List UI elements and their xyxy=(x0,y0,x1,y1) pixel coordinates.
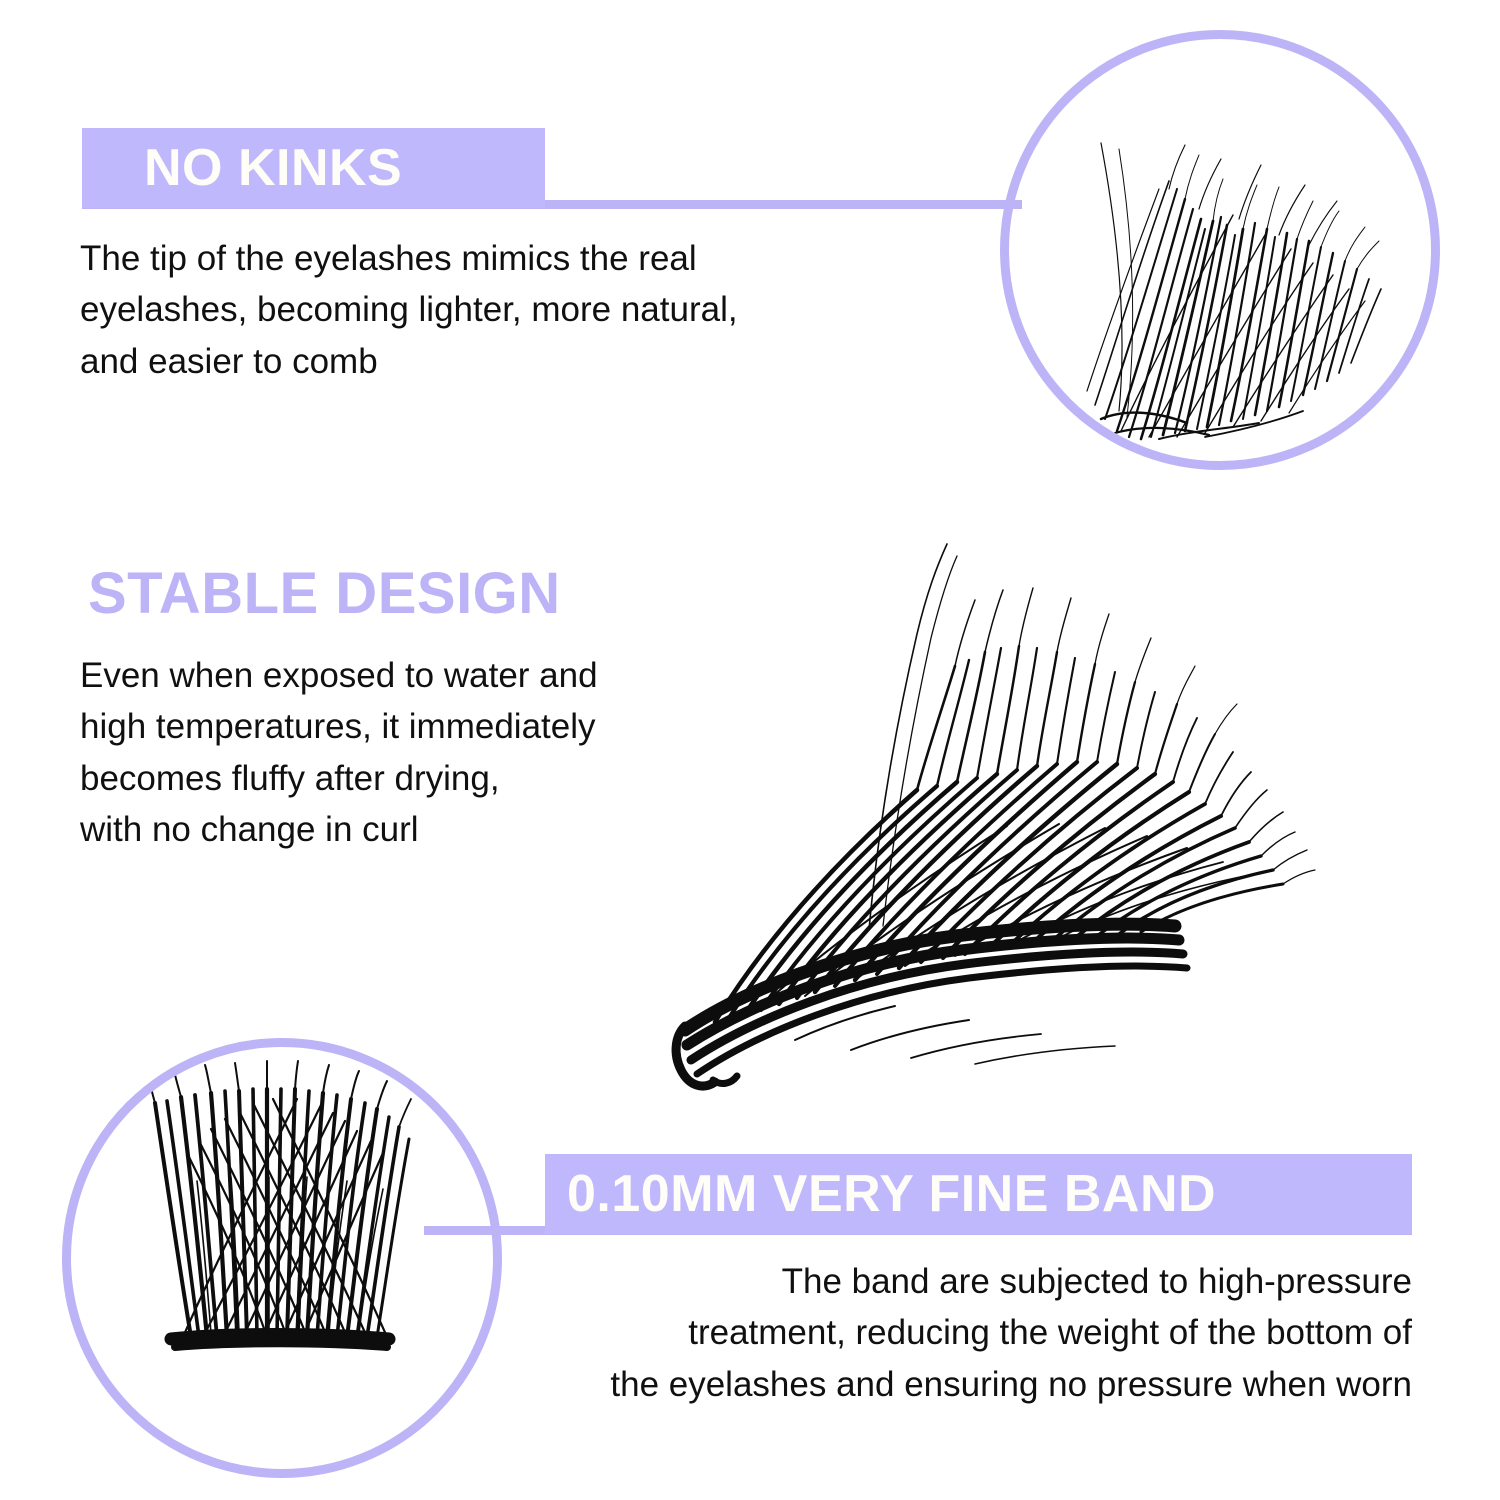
heading-stable-design: STABLE DESIGN xyxy=(88,565,561,623)
heading-fine-band: 0.10MM VERY FINE BAND xyxy=(567,1168,1216,1220)
lash-tips-illustration xyxy=(1009,39,1431,461)
infographic-page: NO KINKS The tip of the eyelashes mimics… xyxy=(0,0,1500,1500)
body-fine-band: The band are subjected to high-pressure … xyxy=(420,1256,1412,1410)
heading-badge-fine-band: 0.10MM VERY FINE BAND xyxy=(545,1154,1412,1234)
heading-no-kinks: NO KINKS xyxy=(144,142,402,194)
body-no-kinks: The tip of the eyelashes mimics the real… xyxy=(80,233,980,387)
lash-tips-circle xyxy=(1000,30,1440,470)
full-lash-strip-illustration xyxy=(655,470,1335,1110)
heading-badge-no-kinks: NO KINKS xyxy=(82,128,545,208)
